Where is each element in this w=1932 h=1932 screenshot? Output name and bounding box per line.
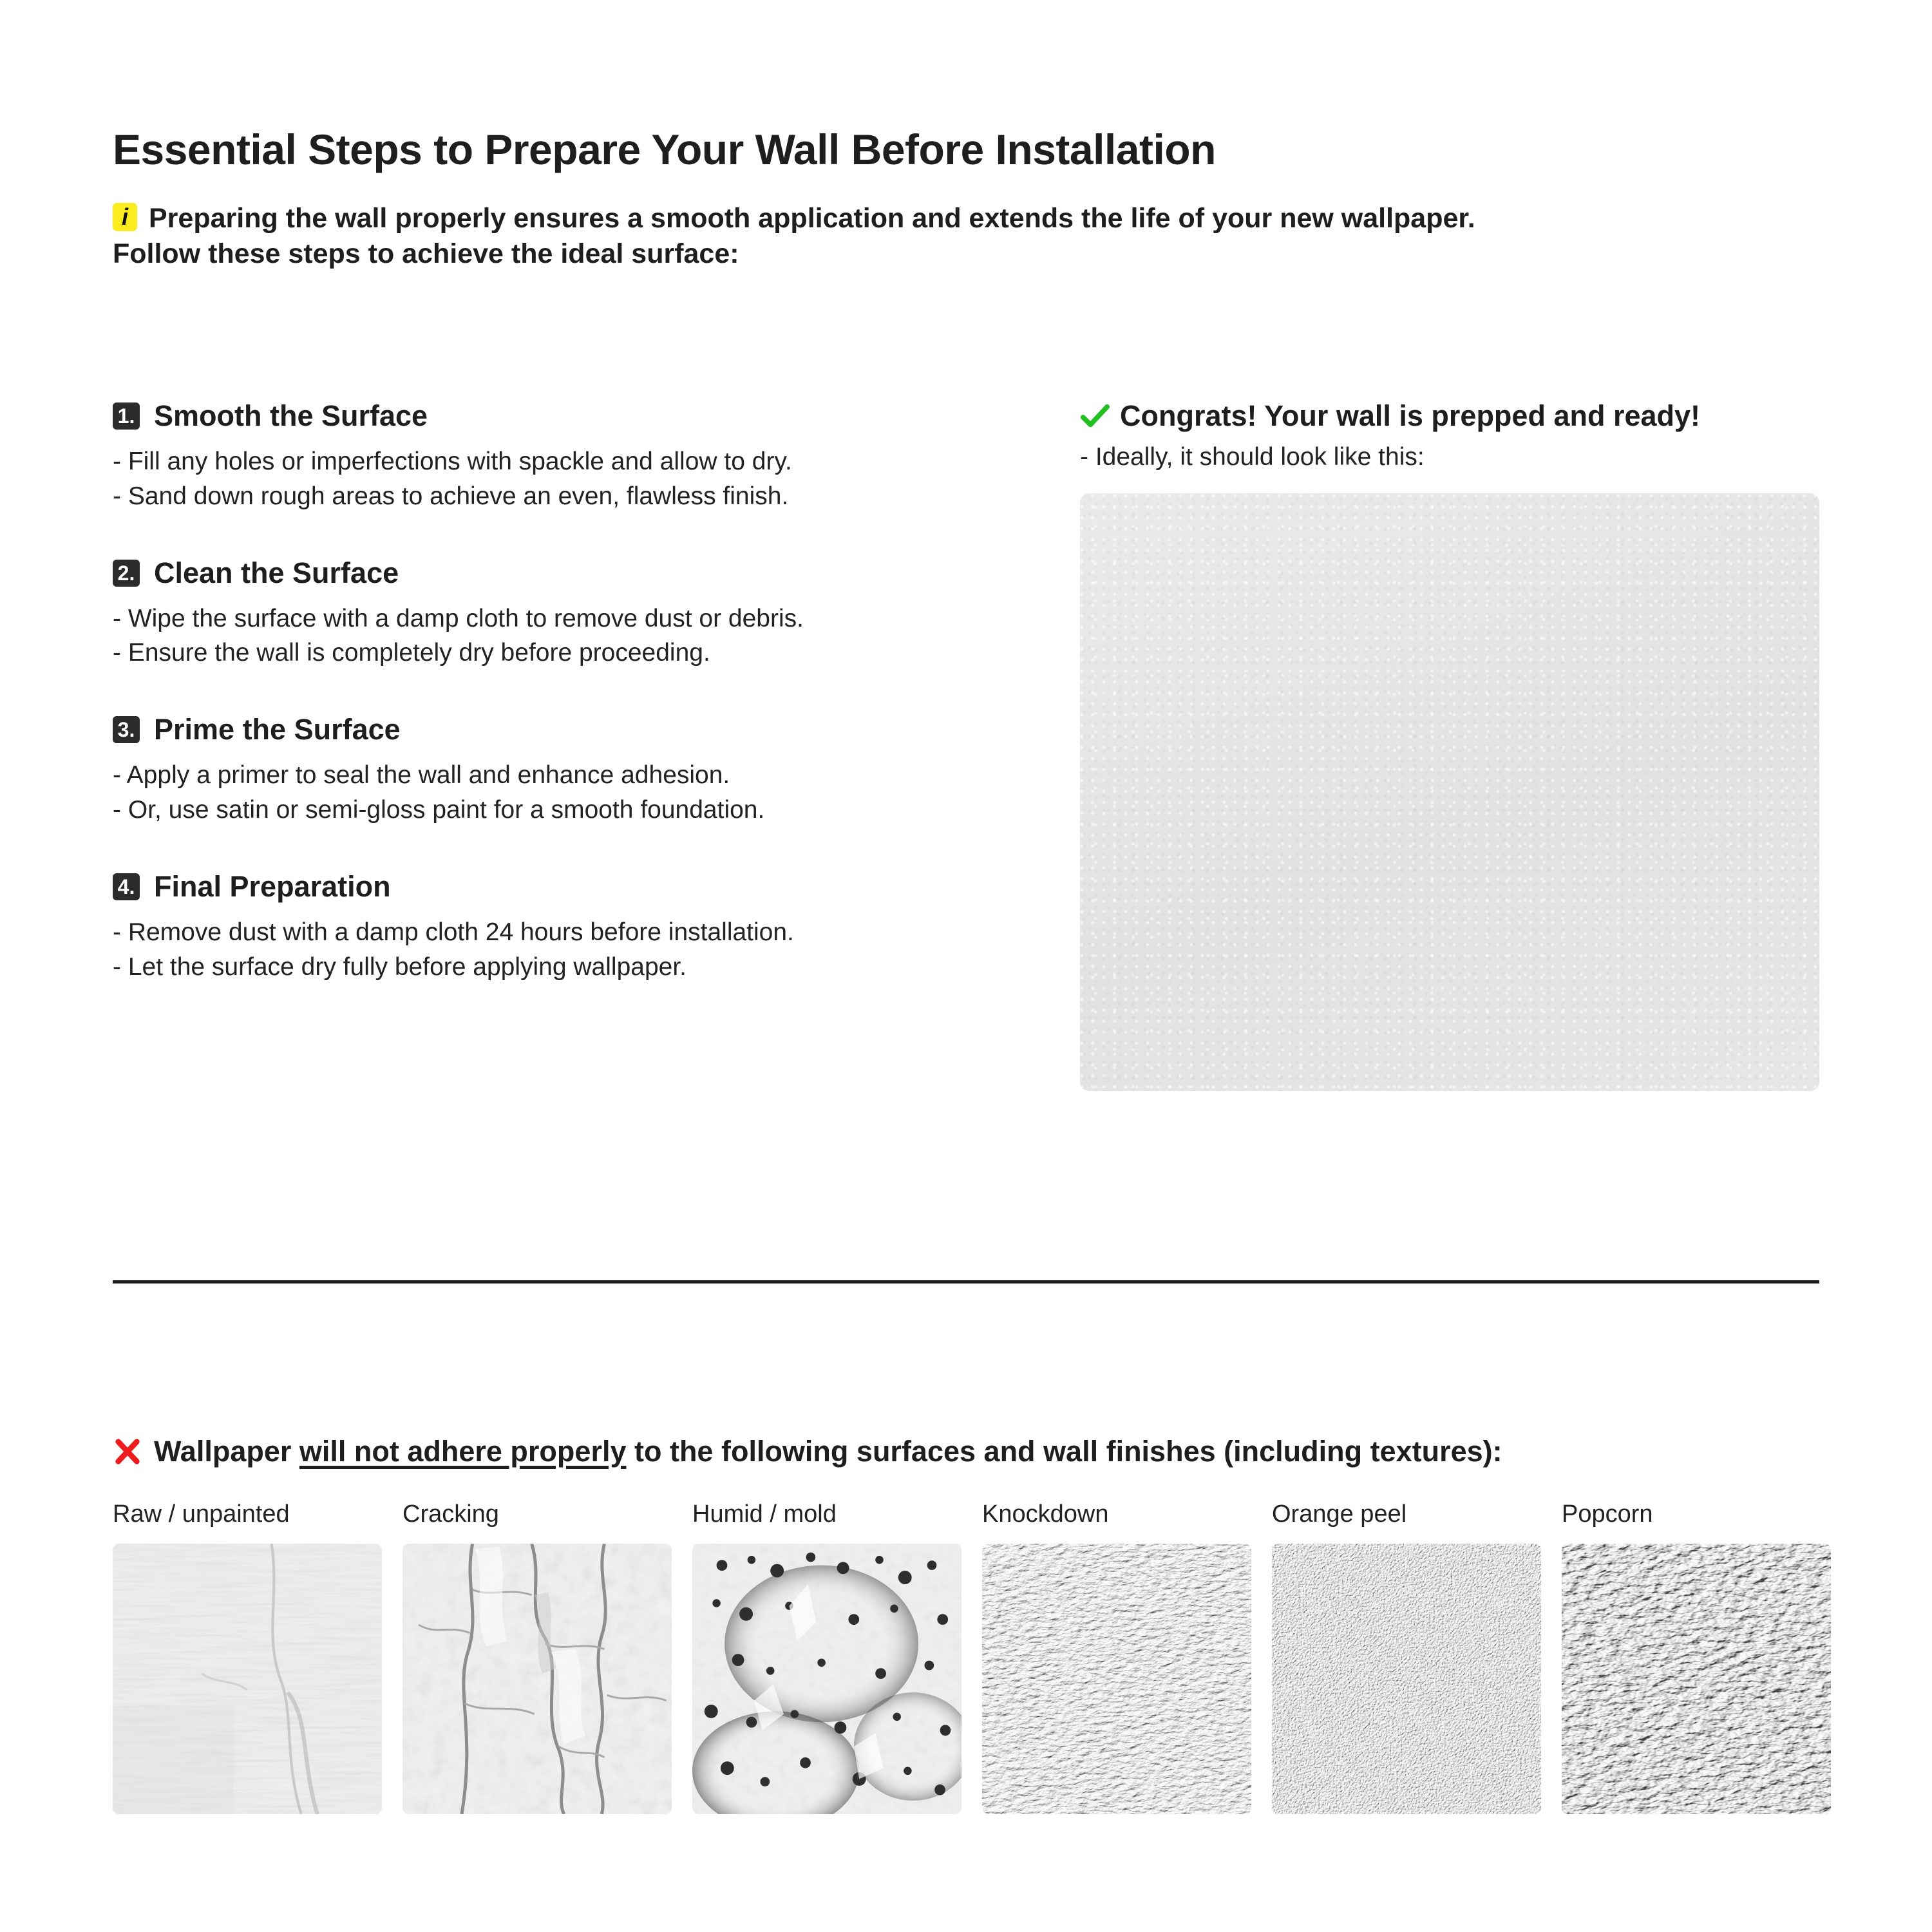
step-number-badge: 1. (113, 402, 140, 430)
thumbnail-image-knockdown (982, 1544, 1251, 1814)
prepped-wall-sample-image (1080, 493, 1819, 1091)
thumbnail-image-orange-peel (1272, 1544, 1541, 1814)
step-detail-line: - Apply a primer to seal the wall and en… (113, 758, 1027, 793)
thumbnail-cell-cracking: Cracking (402, 1501, 672, 1814)
thumbnail-cell-mold: Humid / mold (692, 1501, 961, 1814)
step-heading: 4. Final Preparation (113, 870, 1027, 904)
bad-heading-text: Wallpaper will not adhere properly to th… (154, 1435, 1502, 1468)
thumbnail-label: Raw / unpainted (113, 1501, 382, 1528)
step-detail-line: - Wipe the surface with a damp cloth to … (113, 601, 1027, 636)
step-number-badge: 4. (113, 873, 140, 900)
step-item-2: 2. Clean the Surface - Wipe the surface … (113, 556, 1027, 671)
thumbnail-label: Orange peel (1272, 1501, 1541, 1528)
section-divider (113, 1280, 1819, 1283)
congrats-heading: Congrats! Your wall is prepped and ready… (1080, 399, 1819, 433)
thumbnail-cell-knockdown: Knockdown (982, 1501, 1251, 1814)
step-detail-line: - Ensure the wall is completely dry befo… (113, 636, 1027, 670)
wall-prep-infographic: Essential Steps to Prepare Your Wall Bef… (0, 0, 1932, 1932)
step-title: Smooth the Surface (154, 399, 428, 433)
intro-paragraph: iPreparing the wall properly ensures a s… (113, 201, 1826, 272)
step-item-4: 4. Final Preparation - Remove dust with … (113, 870, 1027, 985)
thumbnail-cell-orange-peel: Orange peel (1272, 1501, 1541, 1814)
thumbnail-cell-popcorn: Popcorn (1562, 1501, 1831, 1814)
congrats-text: Congrats! Your wall is prepped and ready… (1120, 399, 1700, 433)
intro-line-2: Follow these steps to achieve the ideal … (113, 238, 739, 269)
bad-surface-thumbnails: Raw / unpainted (113, 1501, 1826, 1814)
step-number-badge: 3. (113, 716, 140, 743)
step-detail-line: - Remove dust with a damp cloth 24 hours… (113, 915, 1027, 950)
step-heading: 3. Prime the Surface (113, 713, 1027, 746)
prepped-wall-column: Congrats! Your wall is prepped and ready… (1080, 399, 1819, 1091)
intro-line-1: Preparing the wall properly ensures a sm… (149, 203, 1475, 234)
step-detail-line: - Let the surface dry fully before apply… (113, 950, 1027, 985)
thumbnail-label: Humid / mold (692, 1501, 961, 1528)
step-title: Clean the Surface (154, 556, 399, 590)
thumbnail-image-humid-mold (692, 1544, 961, 1814)
thumbnail-cell-raw: Raw / unpainted (113, 1501, 382, 1814)
check-icon (1080, 401, 1110, 431)
step-title: Prime the Surface (154, 713, 401, 746)
info-icon: i (113, 203, 137, 231)
bad-surfaces-heading: Wallpaper will not adhere properly to th… (113, 1435, 1502, 1468)
thumbnail-label: Knockdown (982, 1501, 1251, 1528)
bad-heading-before: Wallpaper (154, 1435, 299, 1468)
step-heading: 2. Clean the Surface (113, 556, 1027, 590)
page-title: Essential Steps to Prepare Your Wall Bef… (113, 125, 1216, 174)
thumbnail-label: Popcorn (1562, 1501, 1831, 1528)
x-icon (113, 1437, 142, 1466)
congrats-subtext: - Ideally, it should look like this: (1080, 443, 1819, 471)
thumbnail-image-raw-unpainted (113, 1544, 382, 1814)
bad-heading-underlined: will not adhere properly (299, 1435, 627, 1468)
bad-heading-after: to the following surfaces and wall finis… (626, 1435, 1502, 1468)
thumbnail-image-popcorn (1562, 1544, 1831, 1814)
step-item-1: 1. Smooth the Surface - Fill any holes o… (113, 399, 1027, 514)
thumbnail-image-cracking (402, 1544, 672, 1814)
step-detail-line: - Sand down rough areas to achieve an ev… (113, 479, 1027, 514)
step-item-3: 3. Prime the Surface - Apply a primer to… (113, 713, 1027, 828)
thumbnail-label: Cracking (402, 1501, 672, 1528)
step-detail-line: - Fill any holes or imperfections with s… (113, 444, 1027, 479)
step-heading: 1. Smooth the Surface (113, 399, 1027, 433)
step-title: Final Preparation (154, 870, 391, 904)
step-detail-line: - Or, use satin or semi-gloss paint for … (113, 793, 1027, 828)
step-number-badge: 2. (113, 560, 140, 587)
steps-column: 1. Smooth the Surface - Fill any holes o… (113, 399, 1027, 985)
